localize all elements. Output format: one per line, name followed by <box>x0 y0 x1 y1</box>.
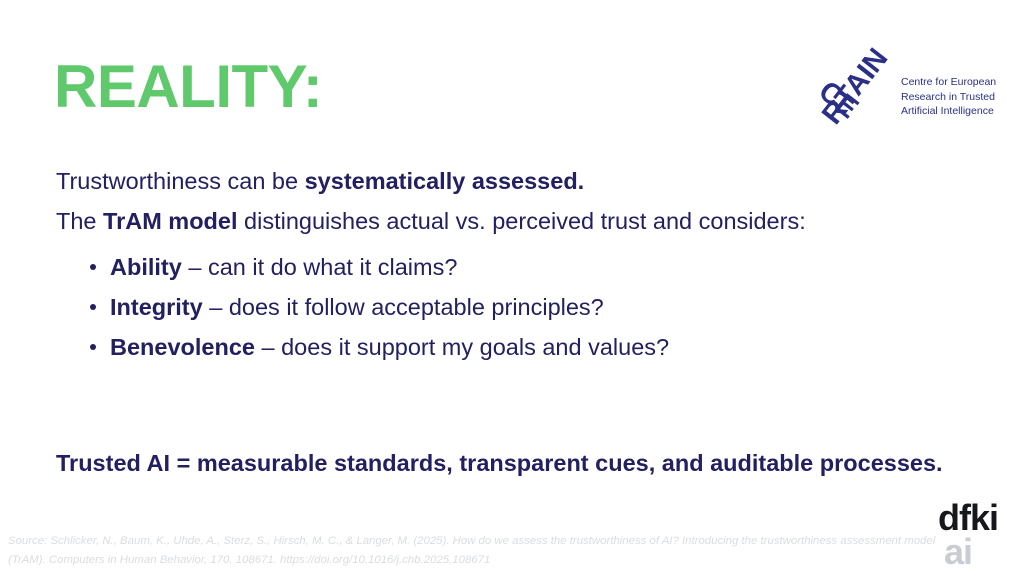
bullet-term: Benevolence <box>110 334 255 360</box>
conclusion-statement: Trusted AI = measurable standards, trans… <box>56 444 970 482</box>
slide-canvas: REALITY: Trustworthiness can be systemat… <box>0 0 1024 576</box>
paragraph2-tail: distinguishes actual vs. perceived trust… <box>238 208 806 234</box>
dfki-logo: dfki ai <box>938 500 1024 576</box>
certain-tagline: Centre for European Research in Trusted … <box>901 75 996 119</box>
bullet-term: Ability <box>110 254 182 280</box>
bullet-dot-icon <box>90 264 96 270</box>
paragraph1-lead: Trustworthiness can be <box>56 168 305 194</box>
bullet-dot-icon <box>90 344 96 350</box>
paragraph-trustworthiness: Trustworthiness can be systematically as… <box>56 161 968 201</box>
trust-dimension-list: Ability – can it do what it claims? Inte… <box>56 247 968 367</box>
bullet-description: – does it follow acceptable principles? <box>203 294 604 320</box>
paragraph2-lead: The <box>56 208 103 234</box>
list-item: Integrity – does it follow acceptable pr… <box>90 287 968 327</box>
paragraph2-emphasis: TrAM model <box>103 208 237 234</box>
paragraph-tram-model: The TrAM model distinguishes actual vs. … <box>56 201 968 241</box>
bullet-description: – can it do what it claims? <box>182 254 458 280</box>
bullet-description: – does it support my goals and values? <box>255 334 669 360</box>
slide-body: Trustworthiness can be systematically as… <box>56 161 968 367</box>
bullet-dot-icon <box>90 304 96 310</box>
bullet-term: Integrity <box>110 294 203 320</box>
certain-logo: CE RTAIN Centre for European Research in… <box>806 22 1018 122</box>
dfki-ai-wordmark: ai <box>944 534 972 570</box>
page-title: REALITY: <box>54 55 322 118</box>
paragraph1-emphasis: systematically assessed. <box>305 168 585 194</box>
source-citation: Source: Schlicker, N., Baum, K., Uhde, A… <box>8 532 948 570</box>
list-item: Benevolence – does it support my goals a… <box>90 327 968 367</box>
list-item: Ability – can it do what it claims? <box>90 247 968 287</box>
